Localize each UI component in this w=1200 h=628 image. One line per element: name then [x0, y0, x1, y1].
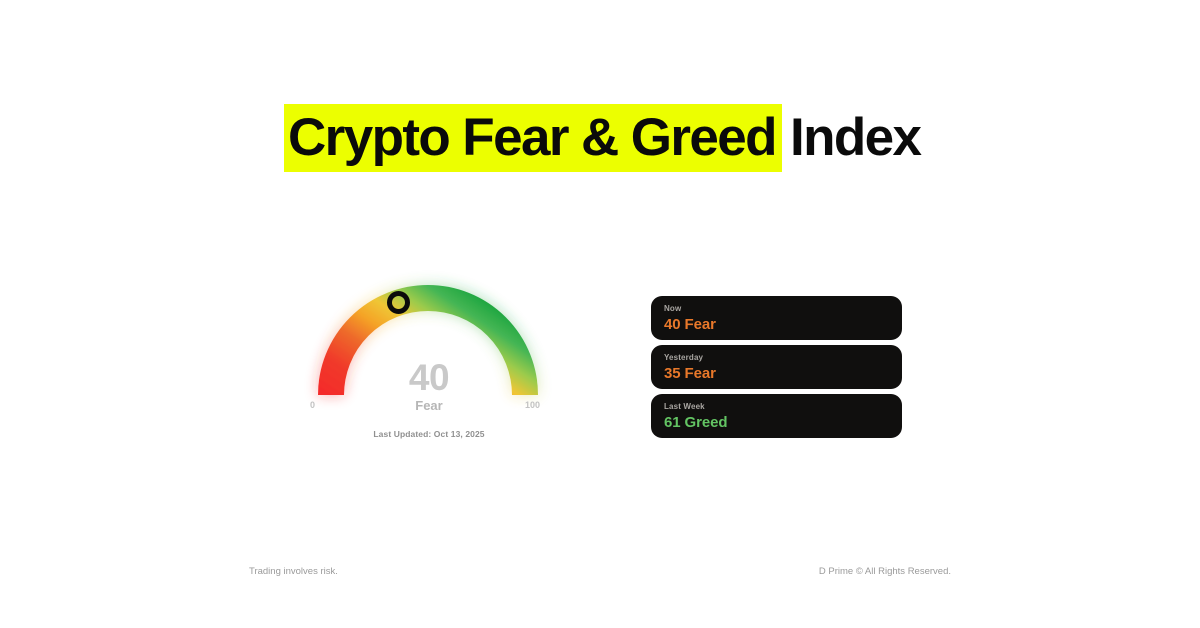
stat-card-label: Now: [664, 303, 902, 314]
fear-greed-gauge: 40 Fear 0 100 Last Updated: Oct 13, 2025: [296, 262, 562, 448]
stat-card-value: 35 Fear: [664, 364, 902, 384]
stat-card-now: Now 40 Fear: [651, 296, 902, 340]
stat-card-label: Yesterday: [664, 352, 902, 363]
gauge-classification-text: Fear: [296, 398, 562, 414]
stat-card-value: 40 Fear: [664, 315, 902, 335]
footer-disclaimer: Trading involves risk.: [249, 566, 338, 577]
stat-card-value: 61 Greed: [664, 413, 902, 433]
gauge-max-tick-label: 100: [525, 400, 540, 410]
index-history-cards: Now 40 Fear Yesterday 35 Fear Last Week …: [651, 296, 902, 438]
page-title-highlight: Crypto Fear & Greed: [284, 104, 782, 172]
gauge-value-text: 40: [296, 358, 562, 398]
stat-card-last-week: Last Week 61 Greed: [651, 394, 902, 438]
last-updated-text: Last Updated: Oct 13, 2025: [296, 429, 562, 439]
footer-copyright: D Prime © All Rights Reserved.: [819, 566, 951, 577]
gauge-value-marker: [387, 291, 410, 314]
stat-card-yesterday: Yesterday 35 Fear: [651, 345, 902, 389]
page-title: Crypto Fear & Greed Index: [284, 104, 920, 172]
gauge-min-tick-label: 0: [310, 400, 315, 410]
gauge-arc: [296, 262, 562, 448]
stat-card-label: Last Week: [664, 401, 902, 412]
page-title-plain: Index: [782, 104, 920, 172]
